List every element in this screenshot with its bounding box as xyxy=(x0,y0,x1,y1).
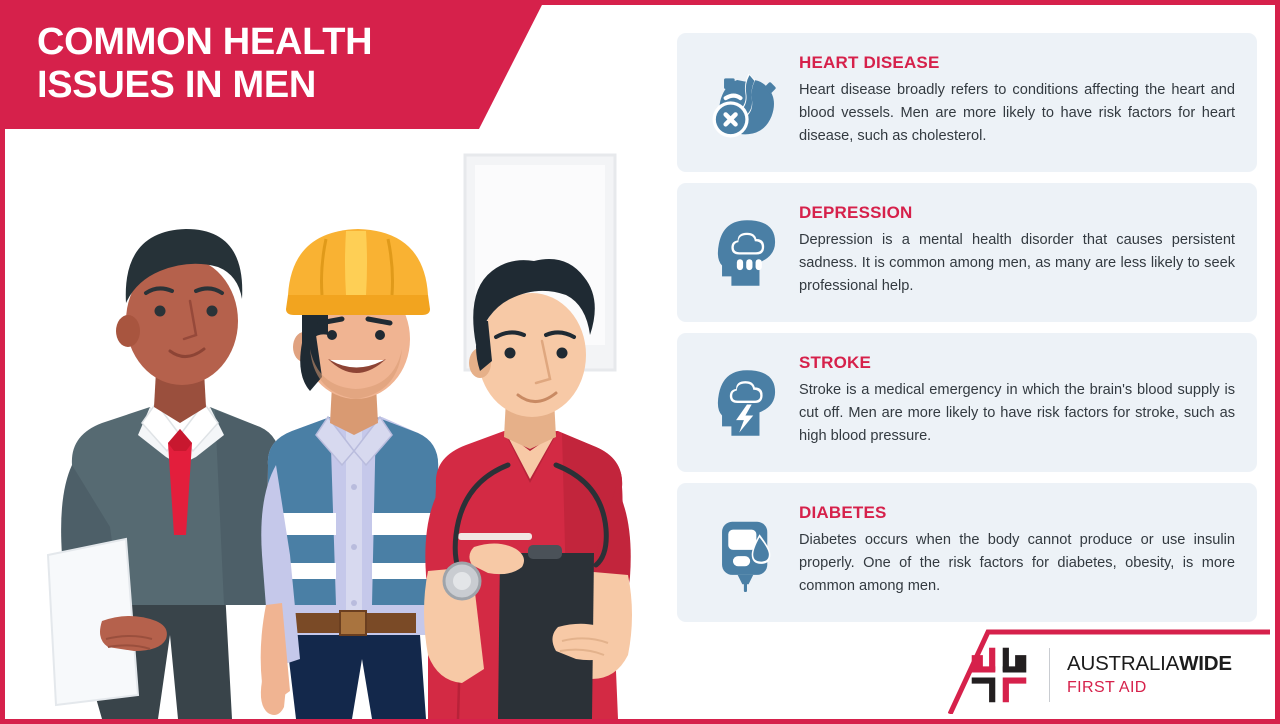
card-description: Depression is a mental health disorder t… xyxy=(799,229,1235,298)
card-description: Heart disease broadly refers to conditio… xyxy=(799,79,1235,148)
health-issues-list: HEART DISEASE Heart disease broadly refe… xyxy=(677,33,1257,622)
card-diabetes[interactable]: DIABETES Diabetes occurs when the body c… xyxy=(677,483,1257,622)
logo-divider xyxy=(1049,648,1050,702)
card-body: STROKE Stroke is a medical emergency in … xyxy=(799,349,1235,448)
footer: AUSTRALIAWIDE FIRST AID xyxy=(948,618,1270,714)
infographic-page: COMMON HEALTH ISSUES IN MEN xyxy=(0,0,1280,724)
brand-wordmark: AUSTRALIAWIDE FIRST AID xyxy=(1067,654,1232,696)
three-men-illustration xyxy=(10,135,670,719)
figure-construction-worker xyxy=(261,229,442,719)
cross-logo-icon xyxy=(968,644,1030,706)
title-banner: COMMON HEALTH ISSUES IN MEN xyxy=(0,0,545,129)
card-description: Stroke is a medical emergency in which t… xyxy=(799,379,1235,448)
brand-name-line2: FIRST AID xyxy=(1067,680,1232,696)
card-title: HEART DISEASE xyxy=(799,53,1235,73)
brand-wide: WIDE xyxy=(1179,652,1232,675)
card-title: STROKE xyxy=(799,353,1235,373)
card-depression[interactable]: DEPRESSION Depression is a mental health… xyxy=(677,183,1257,322)
brand-logo[interactable]: AUSTRALIAWIDE FIRST AID xyxy=(968,644,1232,706)
depression-head-raincloud-icon xyxy=(695,201,799,305)
card-body: DIABETES Diabetes occurs when the body c… xyxy=(799,499,1235,598)
card-title: DEPRESSION xyxy=(799,203,1235,223)
stroke-head-lightning-icon xyxy=(695,351,799,455)
card-heart-disease[interactable]: HEART DISEASE Heart disease broadly refe… xyxy=(677,33,1257,172)
card-body: DEPRESSION Depression is a mental health… xyxy=(799,199,1235,298)
illustration-svg xyxy=(10,135,670,719)
card-stroke[interactable]: STROKE Stroke is a medical emergency in … xyxy=(677,333,1257,472)
heart-disease-icon xyxy=(695,51,799,155)
brand-australia: AUSTRALIA xyxy=(1067,652,1179,675)
card-description: Diabetes occurs when the body cannot pro… xyxy=(799,529,1235,598)
brand-name-line1: AUSTRALIAWIDE xyxy=(1067,654,1232,675)
card-title: DIABETES xyxy=(799,503,1235,523)
card-body: HEART DISEASE Heart disease broadly refe… xyxy=(799,49,1235,148)
diabetes-glucose-meter-icon xyxy=(695,501,799,605)
page-title: COMMON HEALTH ISSUES IN MEN xyxy=(0,21,372,106)
